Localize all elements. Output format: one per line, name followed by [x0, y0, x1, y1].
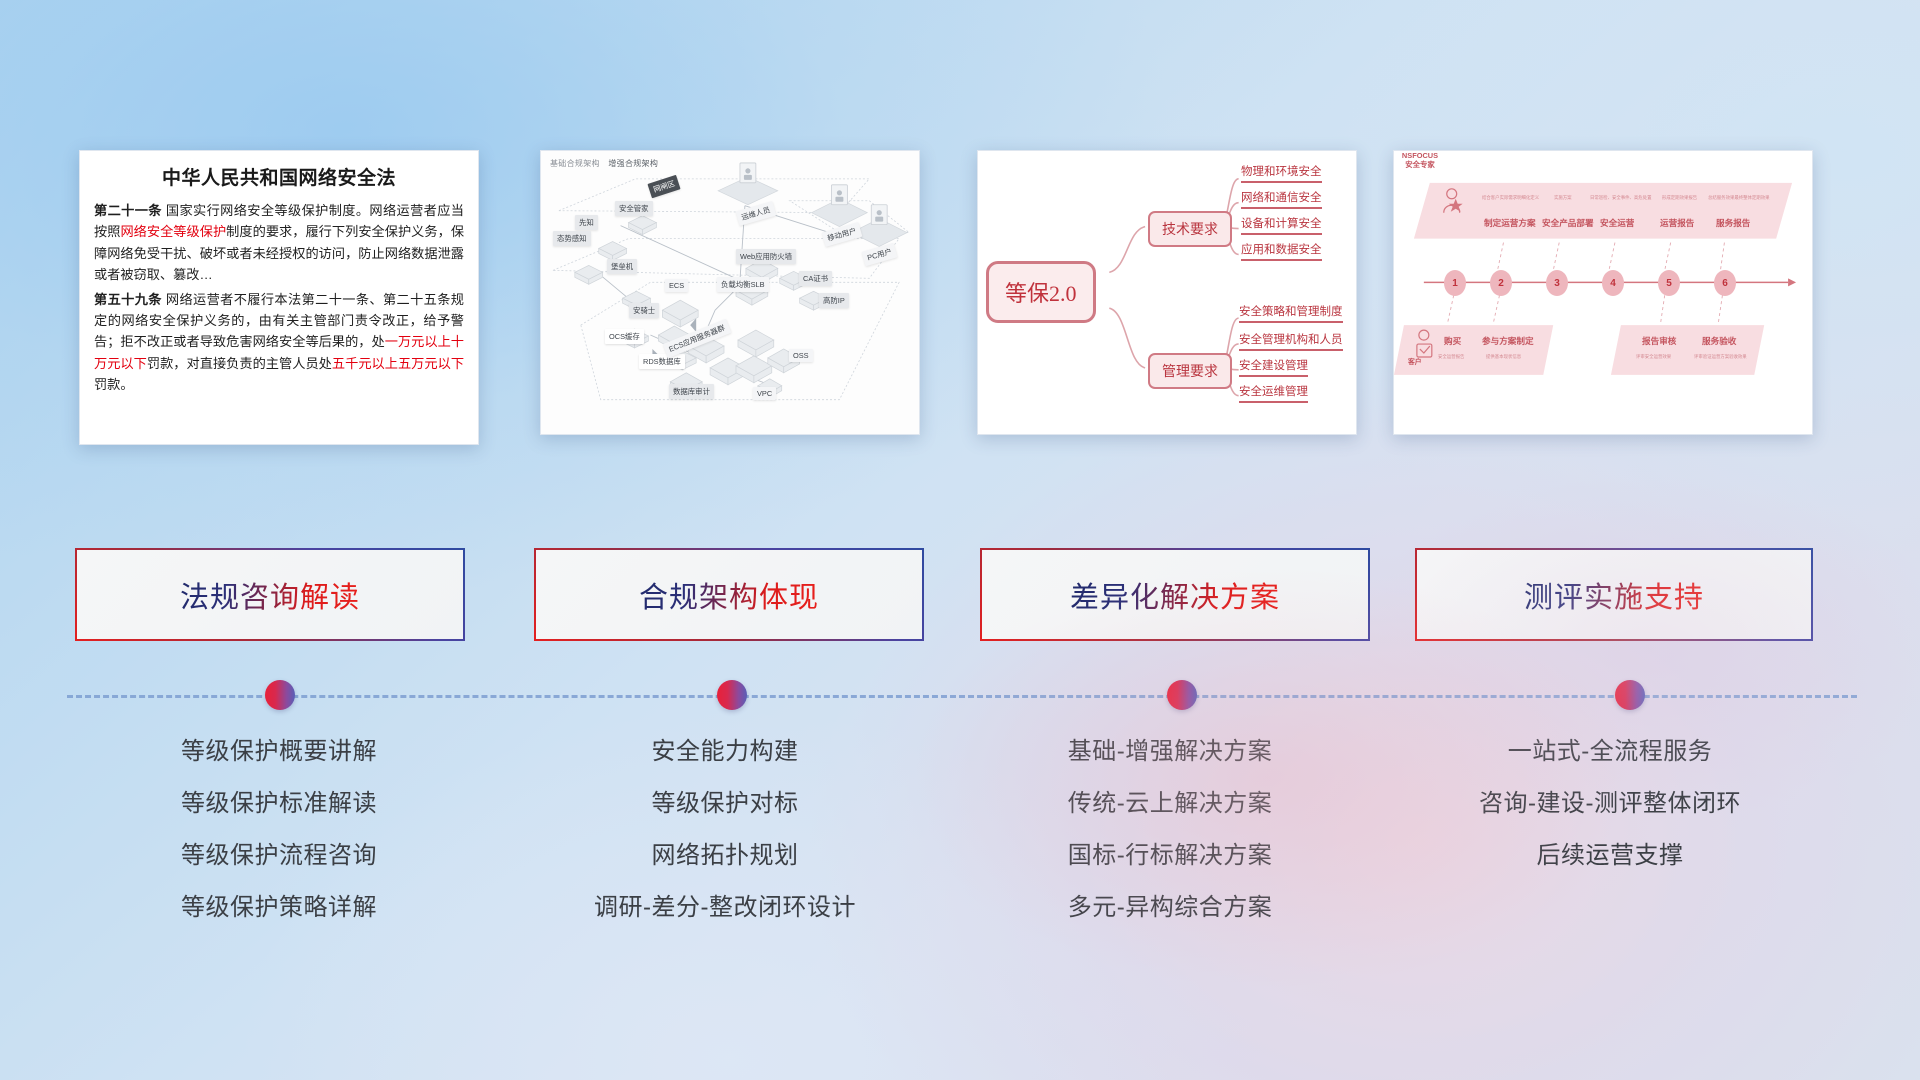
nsfocus-customer-label: 客户	[1408, 356, 1422, 366]
list-item: 安全能力构建	[525, 740, 925, 764]
law-article-21: 第二十一条 国家实行网络安全等级保护制度。网络运营者应当按照网络安全等级保护制度…	[94, 200, 464, 286]
timeline-dot-3[interactable]	[1167, 680, 1197, 710]
section-title-box-4[interactable]: 测评实施支持	[1415, 548, 1813, 641]
nsfocus-bottom-sub-3: 评审安全运营效果	[1636, 354, 1671, 360]
timeline-dot-4[interactable]	[1615, 680, 1645, 710]
topology-node-waf: Web应用防火墙	[736, 249, 796, 264]
nsfocus-step-number-2: 2	[1490, 270, 1512, 296]
list-item: 等级保护对标	[525, 792, 925, 816]
mindmap-branch-management: 管理要求	[1148, 353, 1232, 389]
detail-list-1: 等级保护概要讲解 等级保护标准解读 等级保护流程咨询 等级保护策略详解	[79, 740, 479, 948]
list-item: 咨询-建设-测评整体闭环	[1400, 792, 1820, 816]
section-title-row: 法规咨询解读 合规架构体现 差异化解决方案 测评实施支持	[0, 548, 1920, 644]
article-21-highlight: 网络安全等级保护	[120, 224, 226, 239]
nsfocus-top-title-5: 服务报告	[1716, 217, 1750, 229]
timeline-dot-2[interactable]	[717, 680, 747, 710]
topology-node-situation-awareness: 态势感知	[553, 231, 591, 246]
topology-node-oss: OSS	[789, 349, 813, 362]
article-59-part3: 罚款。	[94, 377, 134, 392]
mindmap: 等保2.0 技术要求 管理要求 物理和环境安全 网络和通信安全 设备和计算安全 …	[978, 151, 1356, 434]
card-dengbao-mindmap: 等保2.0 技术要求 管理要求 物理和环境安全 网络和通信安全 设备和计算安全 …	[977, 150, 1357, 435]
nsfocus-top-title-4: 运营报告	[1660, 217, 1694, 229]
illustration-cards: 中华人民共和国网络安全法 第二十一条 国家实行网络安全等级保护制度。网络运营者应…	[0, 150, 1920, 450]
nsfocus-bottom-title-4: 服务验收	[1702, 335, 1736, 347]
list-item: 等级保护标准解读	[79, 792, 479, 816]
law-title: 中华人民共和国网络安全法	[94, 163, 464, 190]
topology-node-db-audit: 数据库审计	[669, 384, 714, 399]
article-21-label: 第二十一条	[94, 203, 162, 218]
section-title-box-2[interactable]: 合规架构体现	[534, 548, 924, 641]
mindmap-leaf-policy-system: 安全策略和管理制度	[1239, 303, 1343, 323]
nsfocus-top-title-2: 安全产品部署	[1542, 217, 1594, 229]
article-59-highlight-2: 五千元以上五万元以下	[332, 356, 464, 371]
list-item: 后续运营支撑	[1400, 844, 1820, 868]
list-item: 网络拓扑规划	[525, 844, 925, 868]
list-item: 调研-差分-整改闭环设计	[525, 896, 925, 920]
nsfocus-top-title-3: 安全运营	[1600, 217, 1634, 229]
section-title-inner-4: 测评实施支持	[1417, 550, 1812, 640]
timeline-dashed-line	[67, 695, 1857, 698]
section-title-box-1[interactable]: 法规咨询解读	[75, 548, 465, 641]
topology-node-security-manager: 安全管家	[615, 201, 653, 216]
topology-node-ca-cert: CA证书	[799, 271, 832, 286]
mindmap-leaf-physical-env: 物理和环境安全	[1241, 163, 1322, 183]
section-title-inner-2: 合规架构体现	[536, 550, 923, 640]
section-title-text-1: 法规咨询解读	[180, 574, 360, 616]
detail-list-4: 一站式-全流程服务 咨询-建设-测评整体闭环 后续运营支撑	[1400, 740, 1820, 896]
page-background: 中华人民共和国网络安全法 第二十一条 国家实行网络安全等级保护制度。网络运营者应…	[0, 0, 1920, 1080]
mindmap-leaf-network-comm: 网络和通信安全	[1241, 189, 1322, 209]
nsfocus-bottom-sub-2: 提供基本现状信息	[1486, 354, 1521, 360]
timeline-dot-1[interactable]	[265, 680, 295, 710]
list-item: 国标-行标解决方案	[970, 844, 1370, 868]
nsfocus-top-title-1: 制定运营方案	[1484, 217, 1536, 229]
list-item: 多元-异构综合方案	[970, 896, 1370, 920]
mindmap-leaf-device-compute: 设备和计算安全	[1241, 215, 1322, 235]
law-article-59: 第五十九条 网络运营者不履行本法第二十一条、第二十五条规定的网络安全保护义务的，…	[94, 289, 464, 396]
nsfocus-bottom-title-2: 参与方案制定	[1482, 335, 1534, 347]
nsfocus-step-number-4: 4	[1602, 270, 1624, 296]
detail-list-3: 基础-增强解决方案 传统-云上解决方案 国标-行标解决方案 多元-异构综合方案	[970, 740, 1370, 948]
topology-node-xianzhi: 先知	[575, 215, 598, 230]
nsfocus-step-number-3: 3	[1546, 270, 1568, 296]
nsfocus-top-sub-4: 形成定期效果报告	[1662, 195, 1697, 201]
article-59-part2: 罚款，对直接负责的主管人员处	[147, 356, 332, 371]
topology-node-slb: 负载均衡SLB	[717, 277, 769, 292]
nsfocus-top-sub-2: 实施方案	[1554, 195, 1572, 201]
nsfocus-top-sub-3: 日常巡检、安全事件、高危处置	[1590, 195, 1651, 201]
nsfocus-bottom-title-3: 报告审核	[1642, 335, 1676, 347]
topology-diagram: 基础合规架构 增强合规架构	[541, 151, 919, 434]
mindmap-leaf-app-data: 应用和数据安全	[1241, 241, 1322, 261]
nsfocus-step-number-6: 6	[1714, 270, 1736, 296]
section-title-box-3[interactable]: 差异化解决方案	[980, 548, 1370, 641]
section-title-text-2: 合规架构体现	[639, 574, 819, 616]
topology-node-rds: RDS数据库	[639, 354, 685, 369]
section-title-inner-3: 差异化解决方案	[982, 550, 1369, 640]
nsfocus-bottom-title-1: 购买	[1444, 335, 1461, 347]
list-item: 一站式-全流程服务	[1400, 740, 1820, 764]
topology-node-ocs-cache: OCS缓存	[605, 329, 644, 344]
mindmap-root: 等保2.0	[986, 261, 1096, 323]
mindmap-leaf-ops-mgmt: 安全运维管理	[1239, 383, 1308, 403]
nsfocus-bottom-sub-1: 安全运营报告	[1438, 354, 1464, 360]
mindmap-leaf-org-personnel: 安全管理机构和人员	[1239, 331, 1343, 351]
card-cybersecurity-law: 中华人民共和国网络安全法 第二十一条 国家实行网络安全等级保护制度。网络运营者应…	[79, 150, 479, 445]
topology-node-anqishi: 安骑士	[629, 303, 659, 318]
nsfocus-step-number-5: 5	[1658, 270, 1680, 296]
card-nsfocus-service-flow: NSFOCUS 安全专家 结合客户实际需求明细化定义 制定运营方案 实施方案 安…	[1393, 150, 1813, 435]
topology-node-vpc: VPC	[753, 387, 776, 400]
mindmap-branch-technical: 技术要求	[1148, 211, 1232, 247]
topology-lines	[541, 151, 919, 435]
nsfocus-bottom-sub-4: 评审验证运营方案验收效果	[1694, 354, 1747, 360]
nsfocus-top-sub-1: 结合客户实际需求明细化定义	[1482, 195, 1539, 201]
nsfocus-step-number-1: 1	[1444, 270, 1466, 296]
law-text-body: 中华人民共和国网络安全法 第二十一条 国家实行网络安全等级保护制度。网络运营者应…	[80, 151, 478, 406]
section-title-text-3: 差异化解决方案	[1070, 574, 1280, 616]
card-compliance-architecture: 基础合规架构 增强合规架构	[540, 150, 920, 435]
mindmap-leaf-construction-mgmt: 安全建设管理	[1239, 357, 1308, 377]
nsfocus-timeline: NSFOCUS 安全专家 结合客户实际需求明细化定义 制定运营方案 实施方案 安…	[1394, 151, 1812, 434]
list-item: 基础-增强解决方案	[970, 740, 1370, 764]
nsfocus-top-sub-5: 总结服务效果最终整体定期效果	[1708, 195, 1769, 201]
list-item: 等级保护概要讲解	[79, 740, 479, 764]
section-title-inner-1: 法规咨询解读	[77, 550, 464, 640]
section-title-text-4: 测评实施支持	[1524, 574, 1704, 616]
topology-node-anti-ddos: 高防IP	[819, 293, 849, 308]
article-59-label: 第五十九条	[94, 292, 162, 307]
list-item: 等级保护流程咨询	[79, 844, 479, 868]
list-item: 传统-云上解决方案	[970, 792, 1370, 816]
topology-node-ecs: ECS	[665, 279, 688, 292]
topology-node-bastion-host: 堡垒机	[607, 259, 637, 274]
section-detail-lists: 等级保护概要讲解 等级保护标准解读 等级保护流程咨询 等级保护策略详解 安全能力…	[0, 740, 1920, 980]
timeline-track	[67, 694, 1857, 698]
list-item: 等级保护策略详解	[79, 896, 479, 920]
detail-list-2: 安全能力构建 等级保护对标 网络拓扑规划 调研-差分-整改闭环设计	[525, 740, 925, 948]
